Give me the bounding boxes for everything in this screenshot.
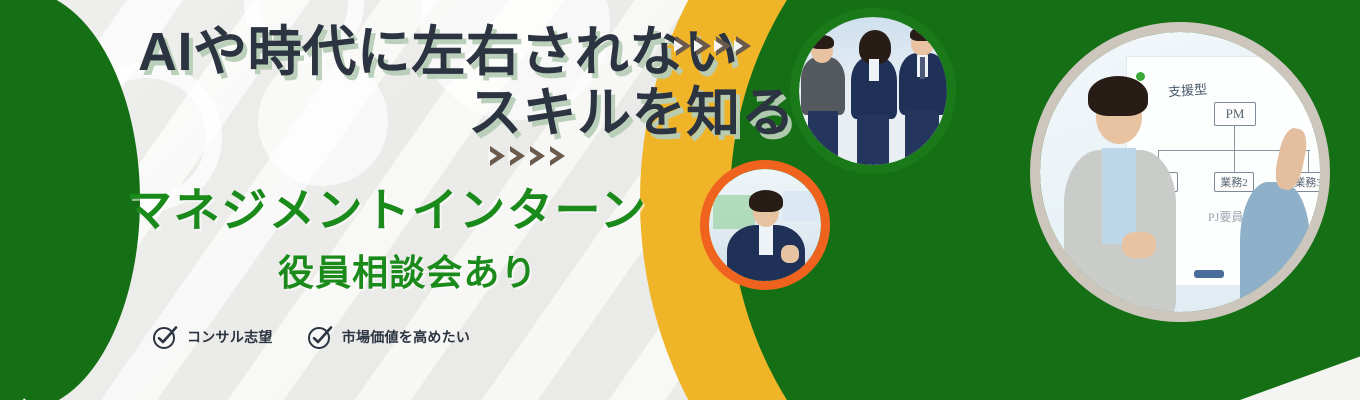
check-circle-icon xyxy=(152,324,178,350)
young-man-photo-inner xyxy=(709,169,821,281)
photo-person-body xyxy=(801,57,845,115)
photo-person-shirt xyxy=(869,59,879,81)
photo-person-hair xyxy=(1088,76,1148,116)
whiteboard-task-box: 業務2 xyxy=(1214,172,1254,192)
recruitment-banner: AIや時代に左右されない スキルを知る マネジメントインターン 役員相談会あり … xyxy=(0,0,1360,400)
triangle-right-icon xyxy=(676,36,691,56)
triangle-right-icon xyxy=(736,36,751,56)
photo-person-hand xyxy=(781,245,799,263)
triangle-right-icon xyxy=(716,36,731,56)
photo-person-shirt xyxy=(759,225,773,255)
whiteboard-magnet xyxy=(1136,72,1145,81)
presenter-whiteboard-photo-inner: 支援型 PM 業務1 業務2 業務3 PJ要員 xyxy=(1040,32,1320,312)
check-item-market-value: 市場価値を高めたい xyxy=(307,324,471,350)
whiteboard-connector xyxy=(1308,150,1309,172)
whiteboard-footer-label: PJ要員 xyxy=(1208,208,1243,225)
whiteboard-connector xyxy=(1234,150,1235,172)
young-man-photo xyxy=(700,160,830,290)
photo-person-hands xyxy=(1122,232,1156,258)
triangle-marker-row-middle xyxy=(490,146,565,166)
triangle-right-icon xyxy=(696,36,711,56)
check-list: コンサル志望 市場価値を高めたい xyxy=(152,324,470,350)
photo-person-legs xyxy=(808,111,838,159)
photo-foreground-person xyxy=(1240,182,1310,312)
photo-person-legs xyxy=(857,115,889,165)
photo-person-hair xyxy=(910,27,935,41)
photo-person-tie xyxy=(920,57,925,79)
group-walking-photo xyxy=(790,8,956,174)
whiteboard-title: 支援型 xyxy=(1167,79,1207,101)
whiteboard-root-box: PM xyxy=(1214,102,1256,126)
background-disc-decoration xyxy=(258,56,388,186)
photo-person-hair xyxy=(810,35,834,49)
presenter-whiteboard-photo: 支援型 PM 業務1 業務2 業務3 PJ要員 xyxy=(1030,22,1330,322)
check-circle-icon xyxy=(307,324,333,350)
check-item-consulting: コンサル志望 xyxy=(152,324,273,350)
check-label: コンサル志望 xyxy=(187,327,273,347)
whiteboard-marker-pen xyxy=(1194,270,1224,278)
triangle-right-icon xyxy=(530,146,545,166)
photo-person-shirt xyxy=(1102,148,1136,244)
photo-person-hair xyxy=(749,190,783,212)
check-label: 市場価値を高めたい xyxy=(342,327,471,347)
triangle-right-icon xyxy=(490,146,505,166)
triangle-right-icon xyxy=(510,146,525,166)
whiteboard-connector xyxy=(1234,126,1235,150)
photo-person-legs xyxy=(905,111,939,163)
group-walking-photo-inner xyxy=(799,17,947,165)
triangle-marker-row-top xyxy=(676,36,751,56)
triangle-right-icon xyxy=(550,146,565,166)
photo-background-panel xyxy=(783,191,819,221)
